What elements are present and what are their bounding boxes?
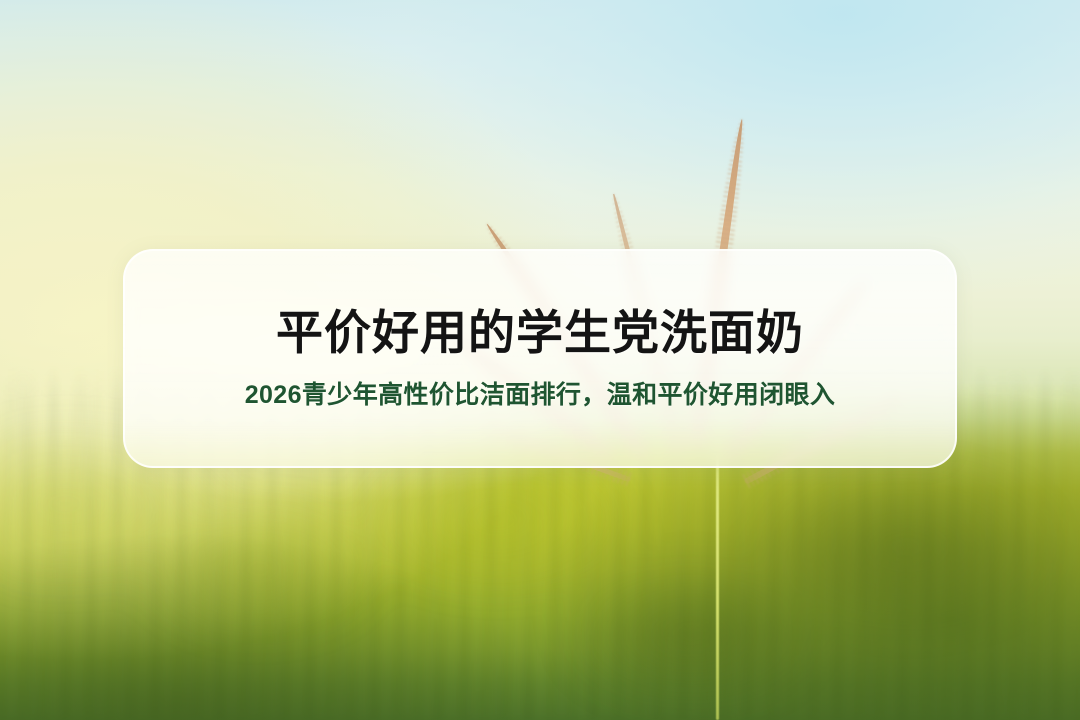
page-title: 平价好用的学生党洗面奶 (276, 306, 804, 362)
poster-canvas: 平价好用的学生党洗面奶 2026青少年高性价比洁面排行，温和平价好用闭眼入 (0, 0, 1080, 720)
page-subtitle: 2026青少年高性价比洁面排行，温和平价好用闭眼入 (245, 380, 836, 411)
headline-card: 平价好用的学生党洗面奶 2026青少年高性价比洁面排行，温和平价好用闭眼入 (123, 249, 957, 468)
